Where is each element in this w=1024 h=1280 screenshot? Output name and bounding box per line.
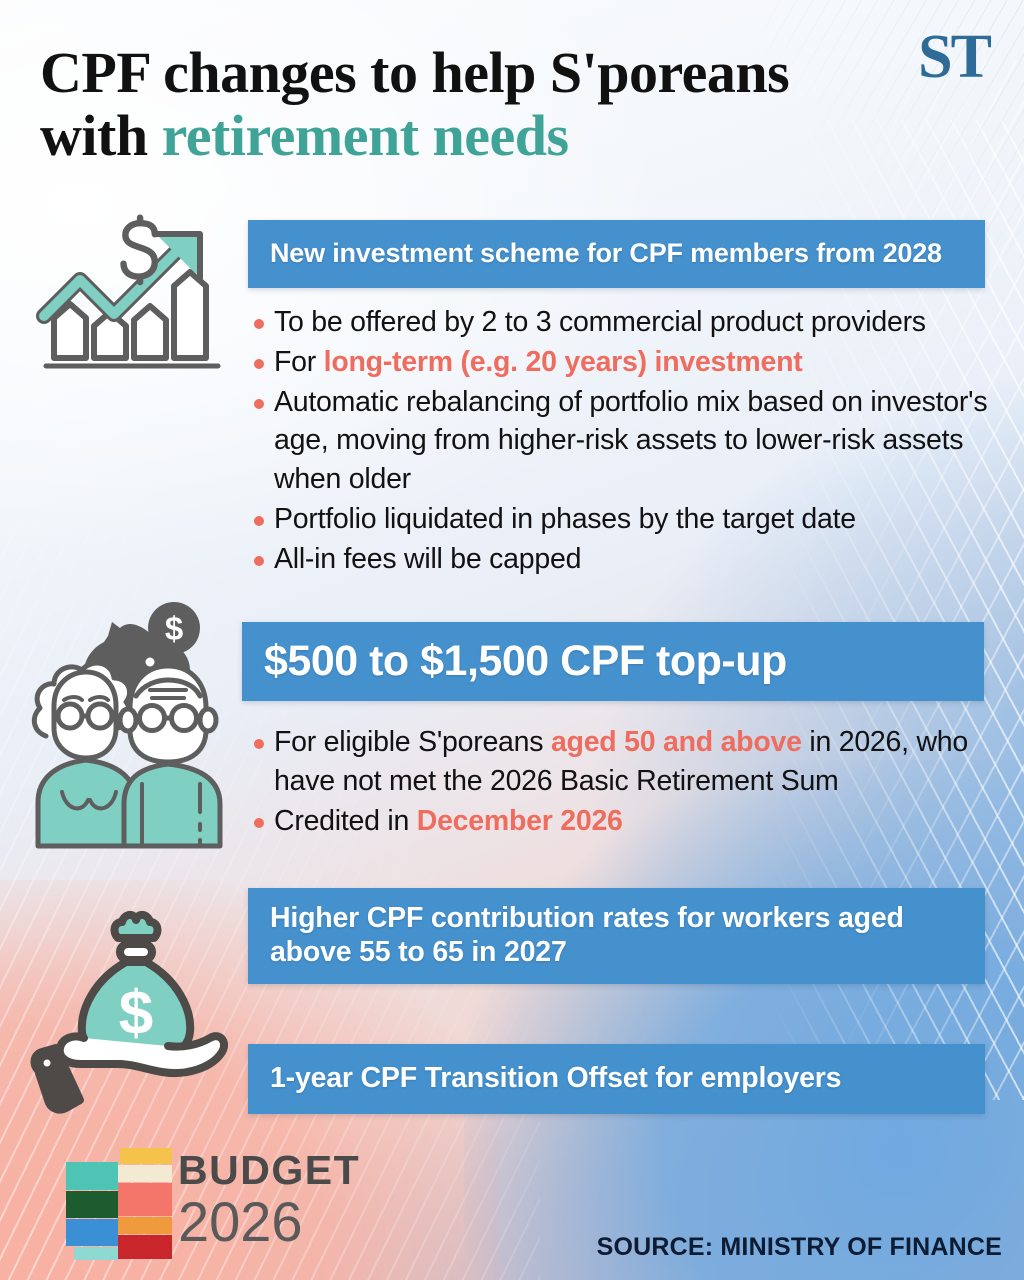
- title-line-2-highlight: retirement needs: [162, 103, 569, 168]
- bullet-text: To be offered by 2 to 3 commercial produ…: [274, 306, 926, 338]
- title-line-1: CPF changes to help S'poreans: [40, 40, 789, 105]
- title-line-2-prefix: with: [40, 103, 162, 168]
- list-item: To be offered by 2 to 3 commercial produ…: [248, 303, 1008, 342]
- banner-transition-offset: 1-year CPF Transition Offset for employe…: [248, 1044, 985, 1114]
- budget-logo-swatches: [60, 1148, 178, 1260]
- bullet-list-cpf-top-up: For eligible S'poreans aged 50 and above…: [248, 723, 1008, 841]
- budget-logo-text: BUDGET 2026: [178, 1150, 360, 1250]
- bullet-text-pre: Credited in: [274, 805, 417, 837]
- list-item: Portfolio liquidated in phases by the ta…: [248, 500, 1008, 539]
- bullet-text-accent: December 2026: [417, 805, 623, 837]
- banner-text: Higher CPF contribution rates for worker…: [248, 902, 985, 969]
- bullet-text: Automatic rebalancing of portfolio mix b…: [274, 386, 987, 496]
- budget-year: 2026: [178, 1193, 360, 1250]
- bullet-text-pre: For eligible S'poreans: [274, 726, 551, 758]
- source-credit: SOURCE: MINISTRY OF FINANCE: [597, 1233, 1002, 1262]
- list-item: Credited in December 2026: [248, 802, 1008, 841]
- list-item: For long-term (e.g. 20 years) investment: [248, 343, 1008, 382]
- list-item: All-in fees will be capped: [248, 540, 1008, 579]
- svg-text:$: $: [119, 979, 153, 1048]
- infographic-root: CPF changes to help S'poreans with retir…: [0, 0, 1024, 1280]
- bullet-text-pre: For: [274, 346, 324, 378]
- banner-higher-contribution-rates: Higher CPF contribution rates for worker…: [248, 888, 985, 984]
- banner-text: $500 to $1,500 CPF top-up: [242, 636, 809, 687]
- banner-text: 1-year CPF Transition Offset for employe…: [248, 1062, 863, 1096]
- banner-cpf-top-up: $500 to $1,500 CPF top-up: [242, 622, 984, 701]
- budget-word: BUDGET: [178, 1150, 360, 1191]
- list-item: Automatic rebalancing of portfolio mix b…: [248, 383, 1008, 499]
- svg-text:$: $: [165, 610, 183, 647]
- bullet-text-accent: aged 50 and above: [551, 726, 802, 758]
- bullet-text-accent: long-term (e.g. 20 years) investment: [324, 346, 803, 378]
- list-item: For eligible S'poreans aged 50 and above…: [248, 723, 1008, 801]
- banner-new-investment-scheme: New investment scheme for CPF members fr…: [248, 220, 985, 288]
- growth-chart-icon: [36, 208, 232, 388]
- bullet-list-new-investment-scheme: To be offered by 2 to 3 commercial produ…: [248, 303, 1008, 579]
- bullet-text: Portfolio liquidated in phases by the ta…: [274, 503, 856, 535]
- elderly-couple-piggy-bank-icon: $: [24, 596, 236, 858]
- straits-times-logo: ST: [918, 26, 990, 88]
- banner-text: New investment scheme for CPF members fr…: [248, 238, 964, 270]
- bullet-text: All-in fees will be capped: [274, 543, 581, 575]
- hand-money-bag-icon: $: [22, 892, 248, 1118]
- header: CPF changes to help S'poreans with retir…: [0, 0, 1024, 200]
- page-title: CPF changes to help S'poreans with retir…: [40, 42, 940, 167]
